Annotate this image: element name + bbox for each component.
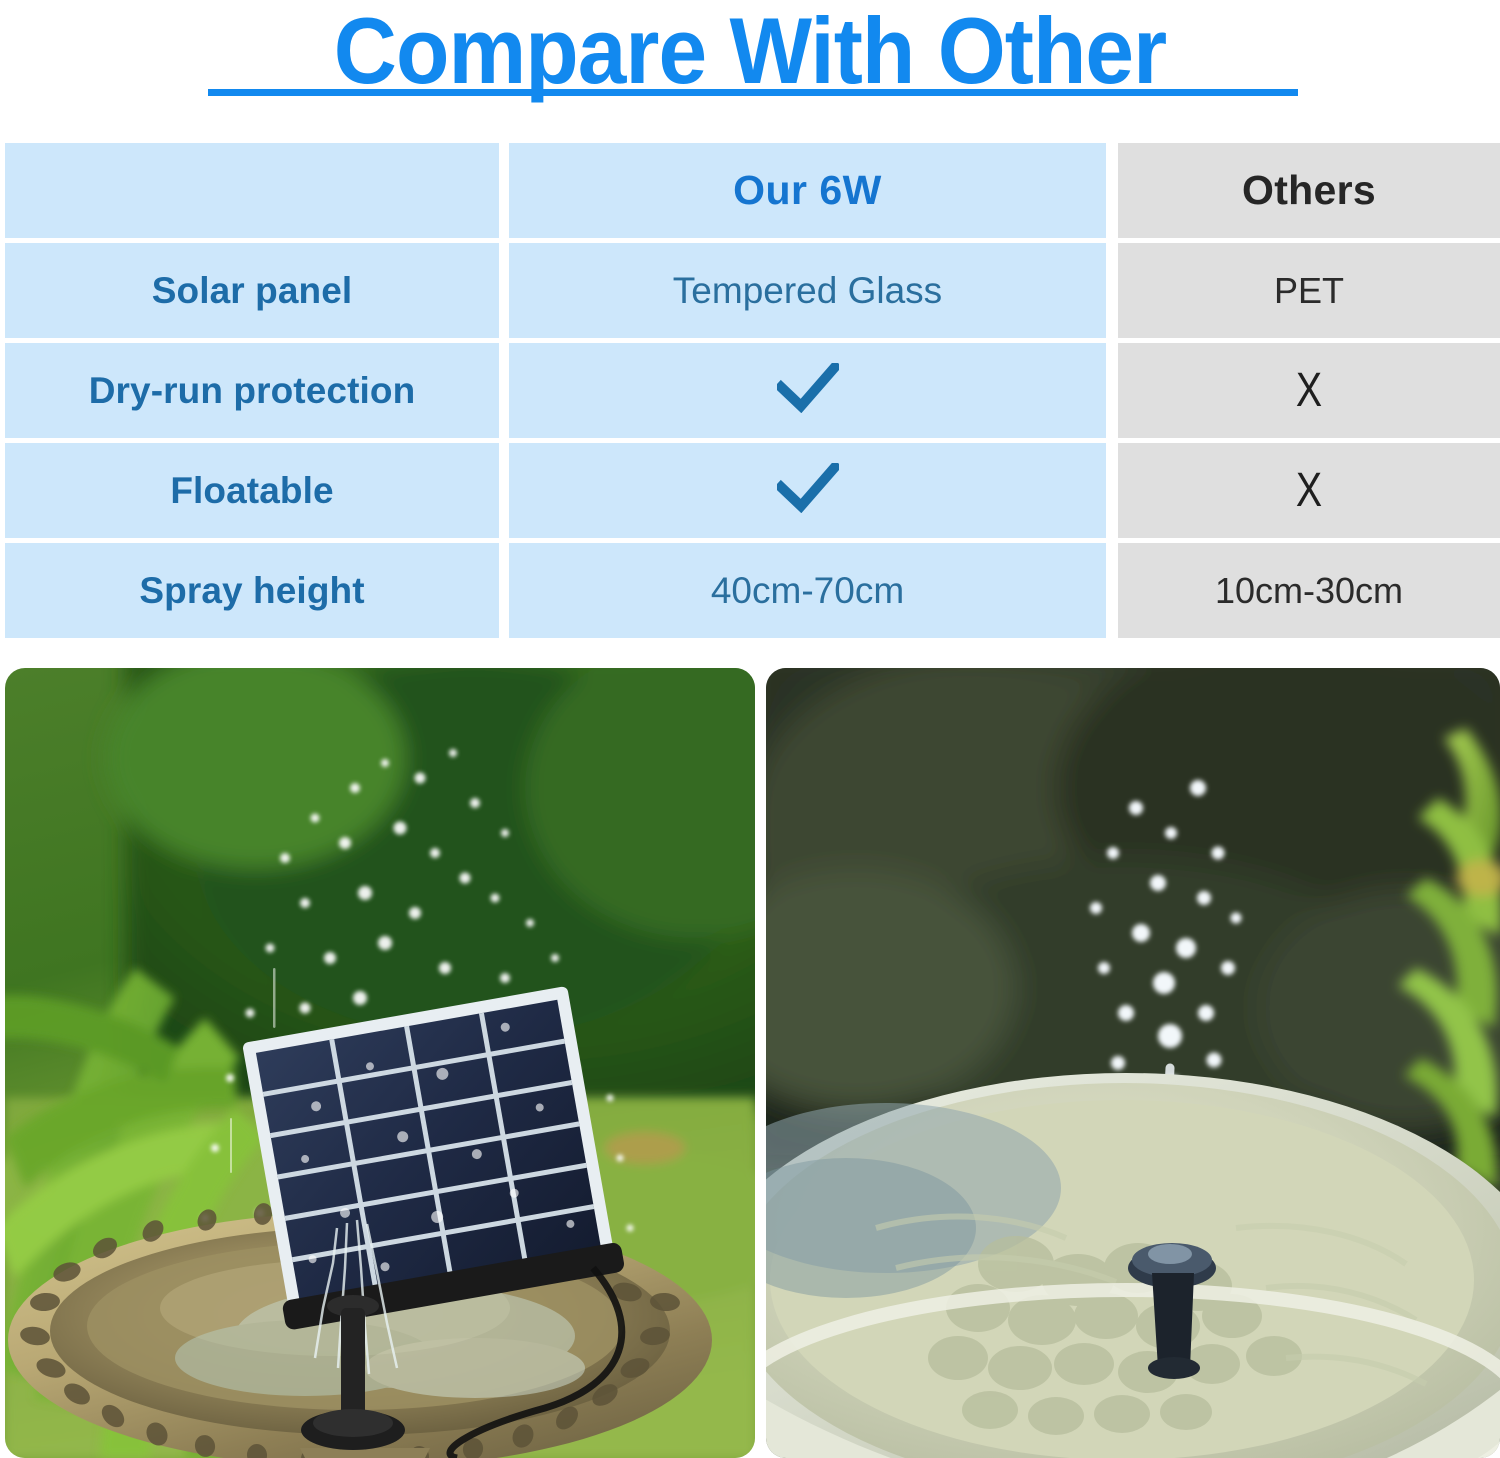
our-solar-fountain-photo (5, 668, 755, 1458)
header-cell-ours: Our 6W (509, 143, 1106, 238)
row-others-value: 10cm-30cm (1215, 570, 1403, 612)
row-ours-value: 40cm-70cm (711, 570, 904, 612)
table-header-row: Our 6W Others (5, 143, 1500, 238)
row-label-cell: Spray height (5, 543, 499, 638)
comparison-table: Our 6W Others Solar panel Tempered Glass… (5, 143, 1500, 638)
row-label-cell: Dry-run protection (5, 343, 499, 438)
row-ours-cell: Tempered Glass (509, 243, 1106, 338)
row-label-text: Spray height (139, 570, 364, 612)
header-ours-text: Our 6W (733, 167, 882, 214)
title-underline (208, 89, 1298, 96)
table-row: Floatable X (5, 443, 1500, 538)
row-ours-cell (509, 343, 1106, 438)
row-others-cell: PET (1118, 243, 1500, 338)
title-block: Compare With Other (0, 0, 1500, 130)
check-icon (777, 363, 839, 418)
table-row: Dry-run protection X (5, 343, 1500, 438)
row-label-text: Solar panel (152, 270, 353, 312)
check-icon (777, 463, 839, 518)
others-fountain-photo (766, 668, 1500, 1458)
row-ours-cell: 40cm-70cm (509, 543, 1106, 638)
row-label-text: Floatable (170, 470, 333, 512)
row-label-text: Dry-run protection (89, 370, 416, 412)
row-label-cell: Solar panel (5, 243, 499, 338)
row-others-cell: X (1118, 343, 1500, 438)
row-others-cell: X (1118, 443, 1500, 538)
header-others-text: Others (1242, 167, 1376, 214)
cross-icon: X (1296, 367, 1322, 415)
photo-strip (0, 668, 1500, 1458)
row-others-value: PET (1274, 270, 1344, 312)
header-cell-label (5, 143, 499, 238)
table-row: Solar panel Tempered Glass PET (5, 243, 1500, 338)
row-others-cell: 10cm-30cm (1118, 543, 1500, 638)
row-ours-value: Tempered Glass (673, 270, 942, 312)
header-cell-others: Others (1118, 143, 1500, 238)
cross-icon: X (1296, 467, 1322, 515)
table-row: Spray height 40cm-70cm 10cm-30cm (5, 543, 1500, 638)
row-ours-cell (509, 443, 1106, 538)
row-label-cell: Floatable (5, 443, 499, 538)
